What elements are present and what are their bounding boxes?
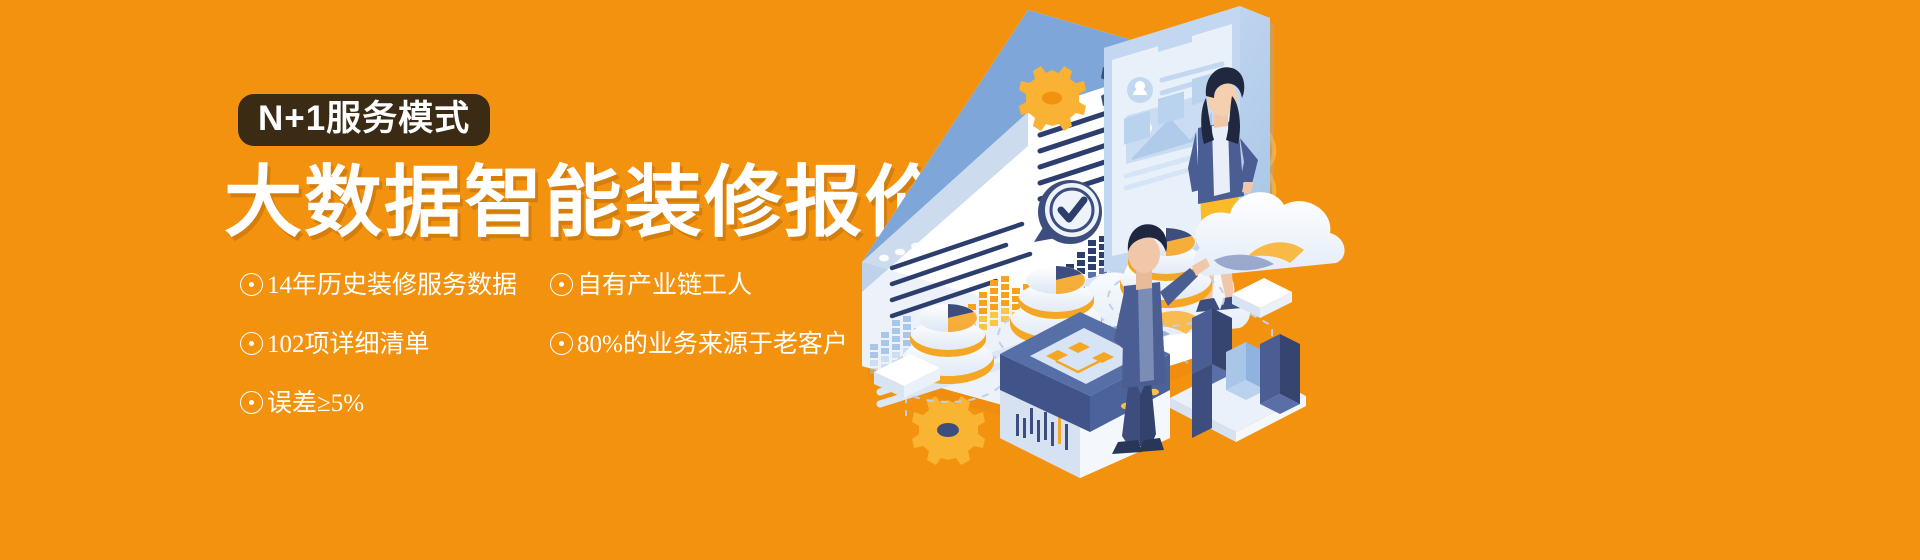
list-item: 80%的业务来源于老客户 [550, 329, 848, 357]
promo-banner: N+1服务模式 大数据智能装修报价 14年历史装修服务数据 102项详细清单 误… [0, 0, 1920, 560]
circled-dot-icon [550, 332, 573, 355]
list-item: 误差≥5% [240, 388, 517, 416]
feature-list-right-column: 自有产业链工人 80%的业务来源于老客户 [550, 270, 848, 388]
circled-dot-icon [240, 332, 263, 355]
list-item-label: 误差≥5% [267, 391, 364, 416]
feature-list-left-column: 14年历史装修服务数据 102项详细清单 误差≥5% [240, 270, 517, 447]
list-item-label: 102项详细清单 [267, 332, 430, 357]
list-item: 102项详细清单 [240, 329, 517, 357]
list-item-label: 80%的业务来源于老客户 [577, 332, 848, 357]
list-item: 自有产业链工人 [550, 270, 848, 298]
circled-dot-icon [240, 273, 263, 296]
list-item-label: 14年历史装修服务数据 [267, 273, 517, 298]
circled-dot-icon [550, 273, 573, 296]
list-item: 14年历史装修服务数据 [240, 270, 517, 298]
page-title: 大数据智能装修报价 [224, 163, 944, 241]
list-item-label: 自有产业链工人 [577, 273, 752, 298]
circled-dot-icon [240, 391, 263, 414]
isometric-big-data-illustration [840, 0, 1920, 560]
service-mode-badge: N+1服务模式 [238, 94, 490, 146]
